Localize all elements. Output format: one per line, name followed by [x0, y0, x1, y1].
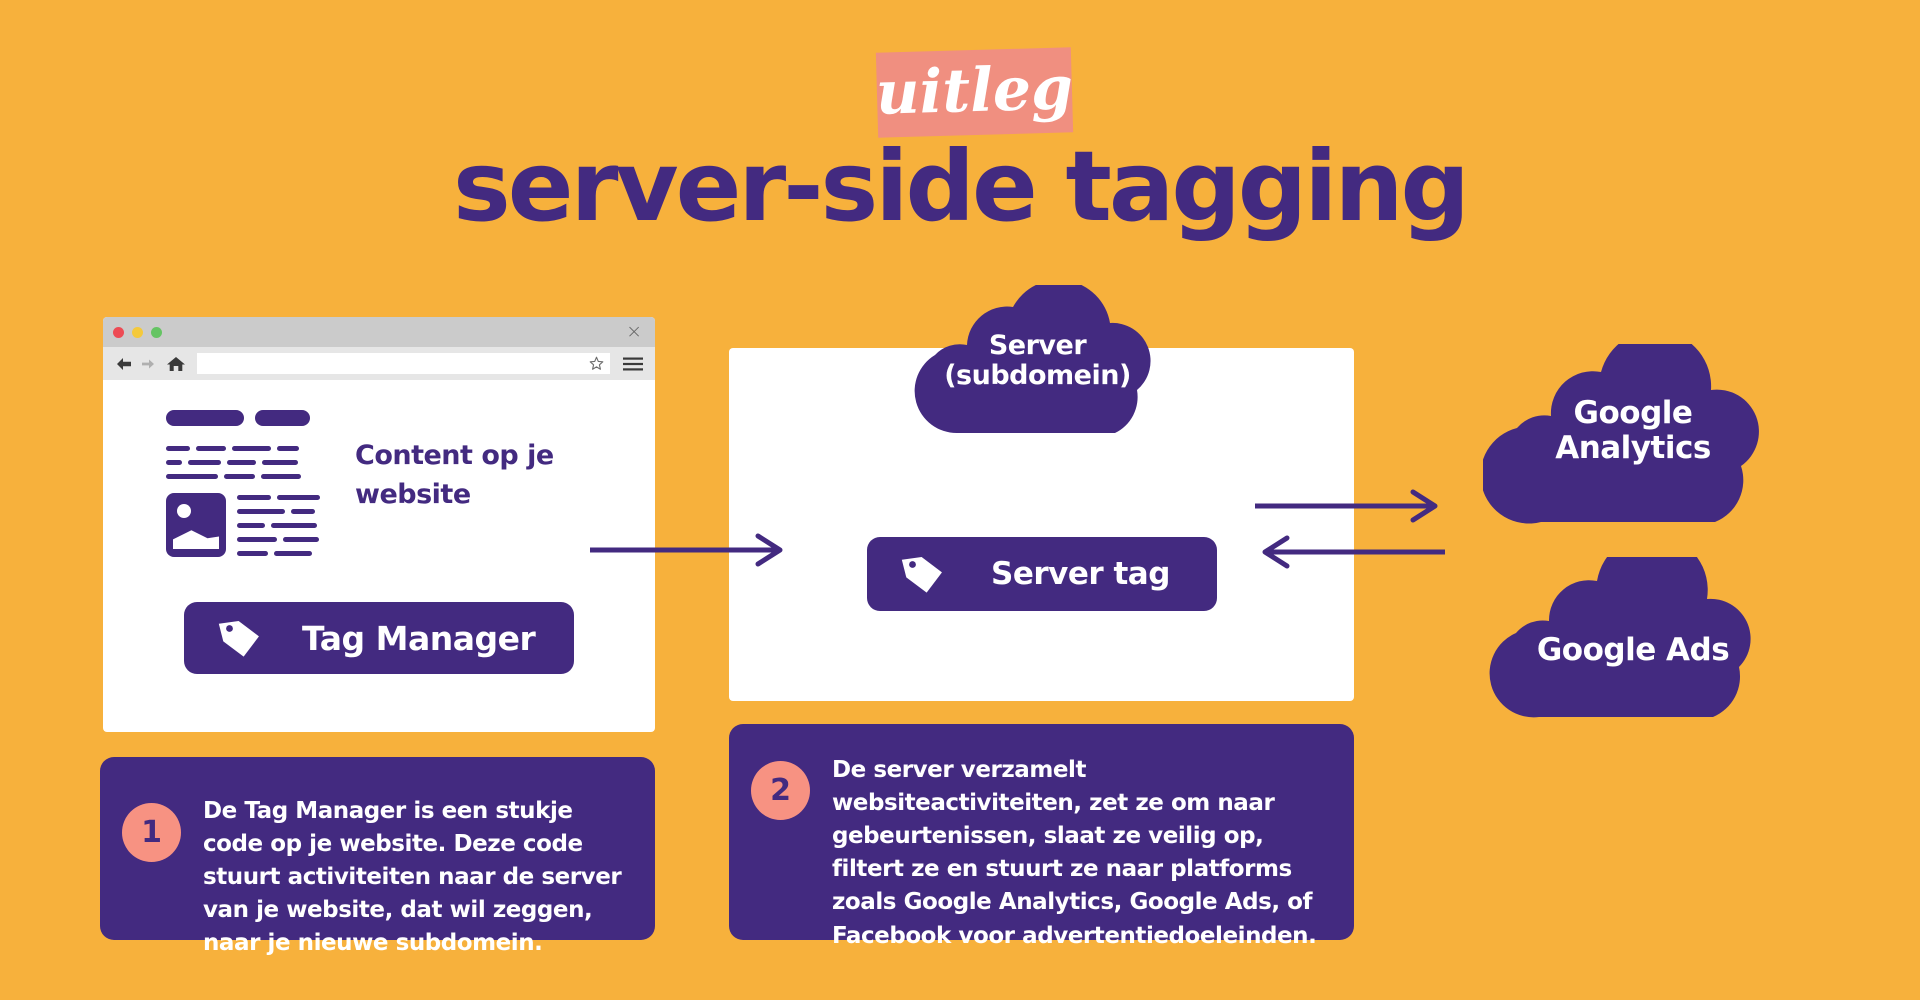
wireframe-line-row	[237, 523, 320, 528]
tag-icon	[214, 612, 266, 664]
image-placeholder-icon	[166, 493, 226, 557]
page-title: server-side tagging	[0, 138, 1920, 235]
server-tag-button-label: Server tag	[991, 556, 1170, 592]
browser-toolbar	[103, 347, 655, 380]
wireframe-text-lines-right	[237, 493, 320, 557]
traffic-light-close-icon[interactable]	[113, 327, 124, 338]
step-1-text: De Tag Manager is een stukje code op je …	[203, 795, 629, 961]
star-icon[interactable]	[589, 356, 604, 371]
step-number-badge: 1	[122, 803, 181, 862]
back-arrow-icon[interactable]	[113, 354, 135, 374]
traffic-light-maximize-icon[interactable]	[151, 327, 162, 338]
wireframe-lower-block	[166, 493, 321, 557]
uitleg-badge: uitleg	[876, 47, 1073, 137]
wireframe-line-row	[237, 495, 320, 500]
wireframe-bar	[166, 410, 244, 426]
tag-icon	[897, 548, 949, 600]
forward-arrow-icon	[137, 354, 159, 374]
website-wireframe-graphic	[166, 410, 321, 557]
wireframe-line-row	[237, 537, 320, 542]
wireframe-line-row	[166, 446, 321, 451]
server-tag-button[interactable]: Server tag	[867, 537, 1217, 611]
content-label: Content op je website	[355, 436, 555, 514]
uitleg-badge-label: uitleg	[875, 53, 1074, 128]
home-icon[interactable]	[165, 354, 187, 374]
browser-window-card: ×	[103, 317, 655, 732]
header: uitleg server-side tagging	[0, 0, 1920, 260]
wireframe-heading-bars	[166, 410, 321, 426]
step-2-callout: 2 De server verzamelt websiteactiviteite…	[729, 724, 1354, 940]
tag-manager-button[interactable]: Tag Manager	[184, 602, 574, 674]
server-cloud-label: Server (subdomein)	[905, 331, 1170, 391]
wireframe-line-row	[237, 509, 320, 514]
wireframe-bar	[255, 410, 310, 426]
wireframe-line-row	[166, 460, 321, 465]
google-analytics-cloud: Google Analytics	[1483, 344, 1783, 544]
browser-content-area: Content op je website Tag Manager	[103, 380, 655, 732]
arrow-website-to-server-icon	[590, 530, 790, 570]
close-icon[interactable]: ×	[626, 323, 642, 342]
wireframe-line-row	[166, 474, 321, 479]
step-number-badge: 2	[751, 761, 810, 820]
step-2-text: De server verzamelt websiteactiviteiten,…	[832, 754, 1328, 953]
traffic-light-minimize-icon[interactable]	[132, 327, 143, 338]
url-input[interactable]	[197, 353, 610, 374]
wireframe-line-row	[237, 551, 320, 556]
browser-titlebar: ×	[103, 317, 655, 347]
tag-manager-button-label: Tag Manager	[302, 619, 535, 658]
hamburger-menu-icon[interactable]	[621, 355, 645, 373]
wireframe-text-lines-top	[166, 446, 321, 479]
google-analytics-cloud-label: Google Analytics	[1483, 396, 1783, 465]
step-1-callout: 1 De Tag Manager is een stukje code op j…	[100, 757, 655, 940]
google-ads-cloud: Google Ads	[1483, 557, 1783, 737]
arrow-server-to-destinations-icon	[1255, 492, 1445, 572]
server-subdomain-cloud: Server (subdomein)	[905, 285, 1170, 450]
google-ads-cloud-label: Google Ads	[1483, 633, 1783, 668]
